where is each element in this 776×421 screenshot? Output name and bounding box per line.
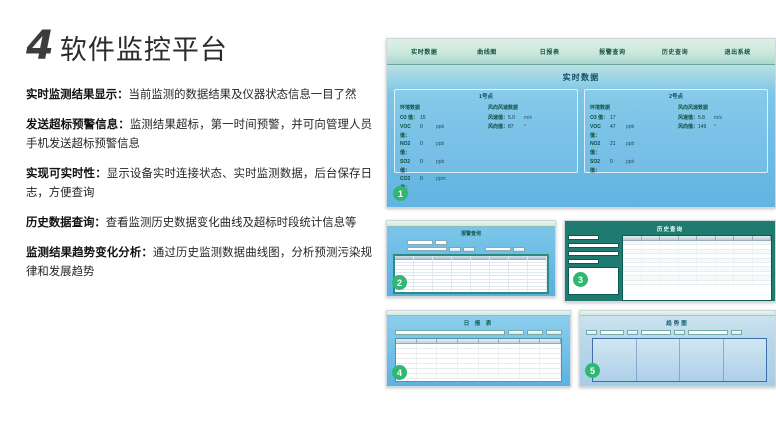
alarm-table[interactable]: [393, 254, 549, 294]
param-select[interactable]: [568, 259, 599, 264]
app-menubar: [580, 311, 775, 316]
date-to-input[interactable]: [568, 251, 619, 256]
bullet-item: 实时监测结果显示：当前监测的数据结果及仪器状态信息一目了然: [26, 86, 372, 106]
date-from-input[interactable]: [600, 330, 624, 335]
data-label: NO2 值：: [400, 140, 420, 158]
data-value: 21: [610, 140, 626, 158]
bullet-separator: ：: [94, 217, 105, 229]
data-unit: ppb: [626, 158, 634, 176]
env-data-group: 环境数据 O3 值：15 VOC 值：0ppb NO2 值：0ppb SO2 值…: [400, 104, 484, 193]
reset-button[interactable]: [513, 247, 525, 252]
screenshot-history-query[interactable]: 历史查询: [564, 220, 776, 302]
data-label: 风速值：: [678, 114, 698, 123]
panel-badge-5: 5: [585, 363, 600, 378]
data-label: O3 值：: [590, 114, 610, 123]
data-value: 0: [420, 140, 436, 158]
station-card-2: 2号点 环境数据 O3 值：17 VOC 值：47ppb NO2 值：21ppb…: [584, 89, 768, 173]
query-form: [387, 237, 555, 252]
data-row: SO2 值：0ppb: [400, 158, 484, 176]
date-input[interactable]: [407, 240, 433, 245]
data-label: 风向值：: [678, 123, 698, 132]
data-label: NO2 值：: [590, 140, 610, 158]
bullet-lead: 监测结果趋势变化分析: [26, 247, 141, 259]
data-value: 0: [610, 158, 626, 176]
section-number: 4: [26, 26, 53, 66]
data-value: 0: [420, 175, 436, 193]
data-value: 5.8: [698, 114, 714, 123]
station-card-1: 1号点 环境数据 O3 值：15 VOC 值：0ppb NO2 值：0ppb S…: [394, 89, 578, 173]
data-unit: m/s: [714, 114, 722, 123]
panel-heading: 趋势图: [580, 319, 775, 327]
menu-item[interactable]: [418, 311, 449, 315]
select-input[interactable]: [435, 240, 447, 245]
data-label: VOC 值：: [590, 123, 610, 141]
query-button[interactable]: [674, 330, 685, 335]
date-from-input[interactable]: [568, 243, 619, 248]
range-input[interactable]: [407, 247, 447, 252]
data-row: 风速值：5.8m/s: [678, 114, 762, 123]
menu-item-realtime-data[interactable]: 实时数据: [393, 47, 456, 56]
text-column: 4 软件监控平台 实时监测结果显示：当前监测的数据结果及仪器状态信息一目了然 发…: [0, 0, 386, 421]
data-row: SO2 值：0ppb: [590, 158, 674, 176]
bullet-item: 实现可实时性：显示设备实时连接状态、实时监测数据，后台保存日志，方便查询: [26, 165, 372, 204]
report-table[interactable]: [395, 338, 562, 382]
bullet-item: 历史数据查询：查看监测历史数据变化曲线及超标时段统计信息等: [26, 214, 372, 234]
query-button[interactable]: [449, 247, 461, 252]
table-row[interactable]: [396, 374, 561, 379]
panel-badge-3: 3: [573, 272, 588, 287]
data-row: O3 值：17: [590, 114, 674, 123]
panel-heading: 历史查询: [565, 225, 775, 233]
wind-group-title: 风向风速数据: [678, 104, 762, 111]
bullet-separator: ：: [141, 247, 153, 259]
menu-item[interactable]: [387, 311, 418, 315]
bullet-item: 发送超标预警信息：监测结果超标，第一时间预警，并可向管理人员手机发送超标预警信息: [26, 116, 372, 155]
env-group-title: 环境数据: [590, 104, 674, 111]
station-select[interactable]: [568, 235, 599, 240]
app-menubar: 实时数据 曲线图 日报表 报警查询 历史查询 退出系统: [387, 39, 775, 65]
section-title: 软件监控平台: [60, 37, 228, 64]
data-label: SO2 值：: [590, 158, 610, 176]
export-button[interactable]: [527, 330, 543, 335]
query-button[interactable]: [508, 330, 524, 335]
bullet-separator: ：: [95, 168, 107, 180]
bullet-separator: ：: [117, 89, 128, 101]
menu-item[interactable]: [509, 311, 540, 315]
bullet-lead: 历史数据查询: [26, 217, 94, 229]
data-value: 149: [698, 123, 714, 132]
table-row[interactable]: [623, 281, 771, 285]
data-unit: °: [524, 123, 526, 132]
data-label: VOC 值：: [400, 123, 420, 141]
panel-heading: 日 报 表: [387, 319, 570, 327]
menu-item[interactable]: [479, 311, 510, 315]
secondary-input[interactable]: [485, 247, 511, 252]
app-menubar: [387, 221, 555, 227]
data-value: 5.0: [508, 114, 524, 123]
data-value: 0: [420, 123, 436, 141]
data-row: 风速值：5.0m/s: [488, 114, 572, 123]
data-label: 风向值：: [488, 123, 508, 132]
data-unit: ppm: [436, 175, 446, 193]
wind-data-group: 风向风速数据 风速值：5.8m/s 风向值：149°: [678, 104, 762, 175]
data-label: O3 值：: [400, 114, 420, 123]
screenshot-gallery: 实时数据 曲线图 日报表 报警查询 历史查询 退出系统 实时数据 1号点 环境数…: [386, 0, 776, 421]
data-label: 风速值：: [488, 114, 508, 123]
menu-item-daily-report[interactable]: 日报表: [518, 47, 581, 56]
station-name: 2号点: [585, 92, 767, 100]
bullet-lead: 发送超标预警信息: [26, 119, 118, 131]
trend-form: [580, 327, 775, 335]
menu-item-exit-system[interactable]: 退出系统: [706, 47, 769, 56]
bullet-separator: ：: [118, 119, 130, 131]
menu-item-history-query[interactable]: 历史查询: [644, 47, 707, 56]
panel-heading: 实时数据: [387, 72, 775, 83]
data-unit: ppb: [436, 158, 444, 176]
app-menubar: [387, 311, 570, 316]
menu-item[interactable]: [448, 311, 479, 315]
data-value: 87: [508, 123, 524, 132]
data-unit: ppb: [626, 123, 634, 141]
export-button[interactable]: [463, 247, 475, 252]
date-to-input[interactable]: [641, 330, 671, 335]
data-row: 风向值：149°: [678, 123, 762, 132]
data-value: 0: [420, 158, 436, 176]
panel-badge-2: 2: [392, 275, 407, 290]
menu-item[interactable]: [540, 311, 571, 315]
table-gridlines: [395, 256, 547, 292]
data-row: NO2 值：21ppb: [590, 140, 674, 158]
data-row: VOC 值：0ppb: [400, 123, 484, 141]
env-group-title: 环境数据: [400, 104, 484, 111]
date-input[interactable]: [395, 330, 505, 335]
screenshot-daily-report[interactable]: 日 报 表 4: [386, 310, 571, 387]
data-unit: ppb: [626, 140, 634, 158]
panel-heading: 报警查询: [387, 230, 555, 237]
page-title: 4 软件监控平台: [26, 26, 372, 66]
screenshot-alarm-query[interactable]: 报警查询: [386, 220, 556, 297]
panel-badge-1: 1: [393, 186, 408, 201]
data-row: O3 值：15: [400, 114, 484, 123]
bullet-item: 监测结果趋势变化分析：通过历史监测数据曲线图，分析预测污染规律和发展趋势: [26, 244, 372, 283]
wind-group-title: 风向风速数据: [488, 104, 572, 111]
menu-item-alarm-query[interactable]: 报警查询: [581, 47, 644, 56]
data-unit: m/s: [524, 114, 532, 123]
menu-item-curve-chart[interactable]: 曲线图: [456, 47, 519, 56]
bullet-body: 当前监测的数据结果及仪器状态信息一目了然: [129, 89, 357, 101]
data-unit: ppb: [436, 140, 444, 158]
data-label: SO2 值：: [400, 158, 420, 176]
calendar-icon[interactable]: [627, 330, 638, 335]
history-table[interactable]: [622, 235, 772, 301]
station-name: 1号点: [395, 92, 577, 100]
data-unit: °: [714, 123, 716, 132]
refresh-button[interactable]: [731, 330, 742, 335]
bullet-lead: 实时监测结果显示: [26, 89, 117, 101]
query-sidebar: [568, 235, 622, 301]
data-row: NO2 值：0ppb: [400, 140, 484, 158]
data-value: 17: [610, 114, 626, 123]
bullet-body: 查看监测历史数据变化曲线及超标时段统计信息等: [106, 217, 357, 229]
screenshot-trend-chart[interactable]: 趋势图 5: [579, 310, 776, 387]
data-row: CO2 值：0ppm: [400, 175, 484, 193]
param-select[interactable]: [688, 330, 728, 335]
station-button[interactable]: [586, 330, 597, 335]
bullet-lead: 实现可实时性: [26, 168, 95, 180]
trend-chart-plot[interactable]: [592, 338, 767, 382]
data-value: 47: [610, 123, 626, 141]
data-row: VOC 值：47ppb: [590, 123, 674, 141]
wind-data-group: 风向风速数据 风速值：5.0m/s 风向值：87°: [488, 104, 572, 193]
data-row: 风向值：87°: [488, 123, 572, 132]
report-form: [387, 327, 570, 335]
print-button[interactable]: [546, 330, 562, 335]
screenshot-realtime-data[interactable]: 实时数据 曲线图 日报表 报警查询 历史查询 退出系统 实时数据 1号点 环境数…: [386, 38, 776, 208]
env-data-group: 环境数据 O3 值：17 VOC 值：47ppb NO2 值：21ppb SO2…: [590, 104, 674, 175]
data-value: 15: [420, 114, 436, 123]
panel-badge-4: 4: [392, 365, 407, 380]
data-unit: ppb: [436, 123, 444, 141]
